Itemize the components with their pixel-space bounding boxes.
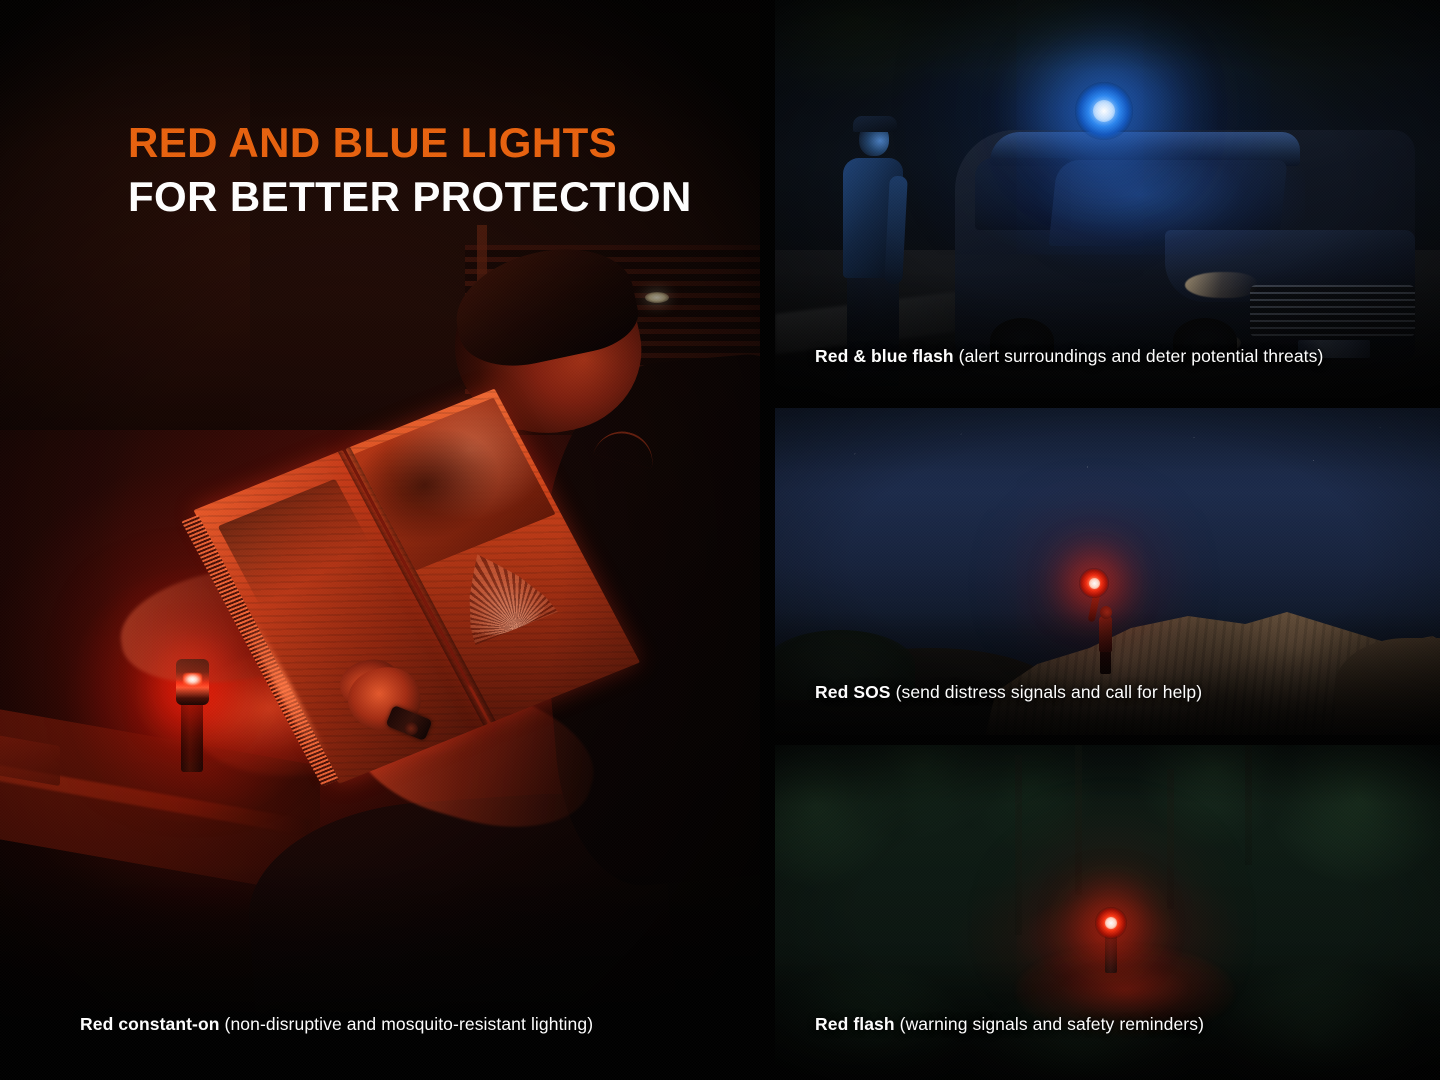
caption-red-sos: Red SOS (send distress signals and call … — [815, 682, 1202, 703]
lantern-lens — [183, 673, 202, 686]
caption-sub: (warning signals and safety reminders) — [900, 1014, 1204, 1034]
caption-sub: (alert surroundings and deter potential … — [959, 346, 1324, 366]
headline-line-1: RED AND BLUE LIGHTS — [128, 122, 692, 164]
person-legs — [847, 268, 899, 386]
headline: RED AND BLUE LIGHTS FOR BETTER PROTECTIO… — [128, 122, 692, 218]
caption-red-flash: Red flash (warning signals and safety re… — [815, 1014, 1204, 1035]
panel-red-blue-flash: Red & blue flash (alert surroundings and… — [775, 0, 1440, 398]
person-cap — [853, 116, 897, 132]
tree-trunk — [1245, 745, 1252, 865]
caption-lead: Red constant-on — [80, 1014, 220, 1034]
headline-line-2: FOR BETTER PROTECTION — [128, 176, 692, 218]
red-flash-light-core — [1105, 917, 1117, 929]
caption-lead: Red flash — [815, 1014, 895, 1034]
scene-police-car-night — [775, 0, 1440, 398]
panel-red-flash: Red flash (warning signals and safety re… — [775, 745, 1440, 1080]
tree-trunk — [1167, 769, 1174, 909]
caption-red-constant-on: Red constant-on (non-disruptive and mosq… — [80, 1014, 593, 1035]
hiker-torso — [1099, 616, 1112, 652]
suv-grille — [1250, 285, 1415, 337]
panel-red-constant-on: RED AND BLUE LIGHTS FOR BETTER PROTECTIO… — [0, 0, 760, 1080]
lantern-body — [181, 700, 203, 772]
red-sos-light-core — [1089, 578, 1100, 589]
caption-sub: (non-disruptive and mosquito-resistant l… — [225, 1014, 594, 1034]
caption-lead: Red SOS — [815, 682, 891, 702]
tree-trunk — [1015, 755, 1022, 935]
hiker-head — [1100, 606, 1112, 619]
caption-sub: (send distress signals and call for help… — [896, 682, 1203, 702]
caption-red-blue-flash: Red & blue flash (alert surroundings and… — [815, 346, 1323, 367]
tree-trunk — [1075, 745, 1082, 895]
marketing-banner: RED AND BLUE LIGHTS FOR BETTER PROTECTIO… — [0, 0, 1440, 1080]
background-light-spot — [645, 292, 669, 303]
blue-beacon-core — [1093, 100, 1115, 122]
beacon-light-spill — [975, 120, 1305, 270]
panel-red-sos: Red SOS (send distress signals and call … — [775, 408, 1440, 735]
suv-headlight — [1185, 272, 1257, 298]
caption-lead: Red & blue flash — [815, 346, 954, 366]
flashlight-body — [1105, 935, 1117, 973]
